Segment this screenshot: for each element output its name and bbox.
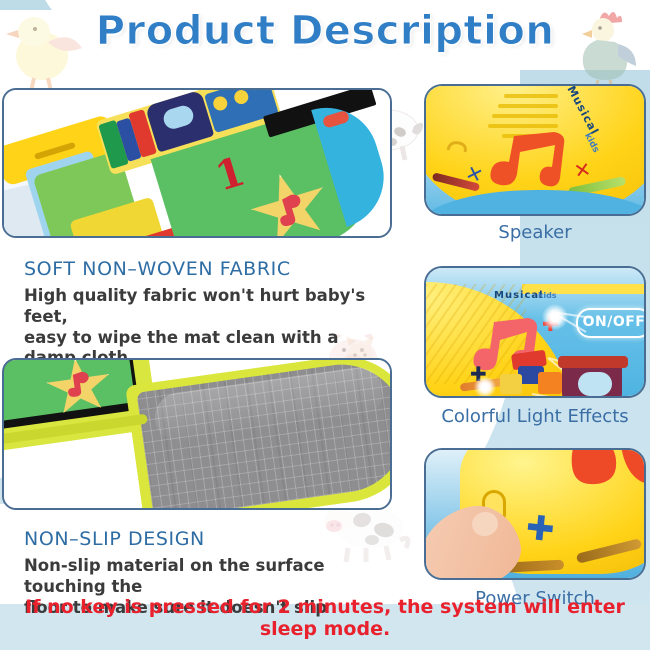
caption-light-effects: Colorful Light Effects [424, 406, 646, 427]
power-switch-photo-content: ✚ [426, 450, 644, 578]
onoff-badge: ON/OFF [576, 308, 644, 338]
page-title: Product Description [0, 8, 650, 54]
mat-photo-content: 5 1 [4, 90, 390, 236]
non-slip-photo-content [4, 360, 390, 508]
caption-speaker: Speaker [424, 222, 646, 243]
photo-speaker: ✕ ✕ Musical kids [424, 84, 646, 216]
speaker-photo-content: ✕ ✕ Musical kids [426, 86, 644, 214]
sleep-mode-footnote: If no key is pressed for 2 minutes, the … [0, 596, 650, 640]
section-title-soft-fabric: SOFT NON–WOVEN FABRIC [24, 258, 291, 280]
photo-light-effects: ✚ ✚ Musical kids ON/OFF [424, 266, 646, 398]
photo-non-slip [2, 358, 392, 510]
light-effects-photo-content: ✚ ✚ Musical kids ON/OFF [426, 268, 644, 396]
infographic-canvas: Product Description 5 [0, 0, 650, 650]
section-body-soft-fabric: High quality fabric won't hurt baby's fe… [24, 286, 384, 369]
photo-soft-fabric: 5 1 [2, 88, 392, 238]
section-title-non-slip: NON–SLIP DESIGN [24, 528, 205, 550]
photo-power-switch: ✚ [424, 448, 646, 580]
